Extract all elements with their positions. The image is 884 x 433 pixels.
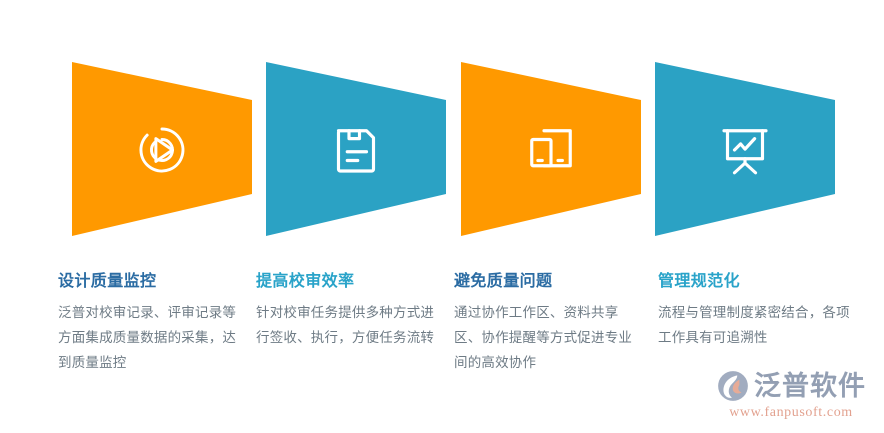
feature-body-4: 流程与管理制度紧密结合，各项工作具有可追溯性 (658, 300, 858, 350)
save-disk-icon (328, 122, 384, 178)
feature-title-1: 设计质量监控 (58, 272, 238, 291)
feature-body-3: 通过协作工作区、资料共享区、协作提醒等方式促进专业间的高效协作 (454, 300, 634, 375)
feature-banner-2[interactable] (266, 50, 446, 250)
feature-banner-1[interactable] (72, 50, 252, 250)
feature-title-4: 管理规范化 (658, 272, 858, 291)
feature-title-2: 提高校审效率 (256, 272, 436, 291)
feature-body-2: 针对校审任务提供多种方式进行签收、执行，方便任务流转 (256, 300, 436, 350)
devices-icon (523, 122, 579, 178)
banner-row (0, 0, 884, 250)
feature-column-3: 避免质量问题 通过协作工作区、资料共享区、协作提醒等方式促进专业间的高效协作 (454, 272, 634, 375)
feature-banner-3[interactable] (461, 50, 641, 250)
feature-body-1: 泛普对校审记录、评审记录等方面集成质量数据的采集，达到质量监控 (58, 300, 238, 375)
feature-column-4: 管理规范化 流程与管理制度紧密结合，各项工作具有可追溯性 (658, 272, 858, 350)
presentation-chart-icon (717, 122, 773, 178)
feature-column-2: 提高校审效率 针对校审任务提供多种方式进行签收、执行，方便任务流转 (256, 272, 436, 350)
fanpu-logo-icon (716, 369, 750, 403)
watermark-url: www.fanpusoft.com (729, 405, 853, 421)
watermark-brand-row: 泛普软件 (716, 369, 866, 403)
feature-banner-4[interactable] (655, 50, 835, 250)
watermark-name: 泛普软件 (754, 373, 866, 400)
feature-column-1: 设计质量监控 泛普对校审记录、评审记录等方面集成质量数据的采集，达到质量监控 (58, 272, 238, 375)
watermark: 泛普软件 www.fanpusoft.com (716, 369, 866, 421)
infographic-canvas: 设计质量监控 泛普对校审记录、评审记录等方面集成质量数据的采集，达到质量监控 提… (0, 0, 884, 433)
monitor-arrow-icon (134, 122, 190, 178)
feature-title-3: 避免质量问题 (454, 272, 634, 291)
